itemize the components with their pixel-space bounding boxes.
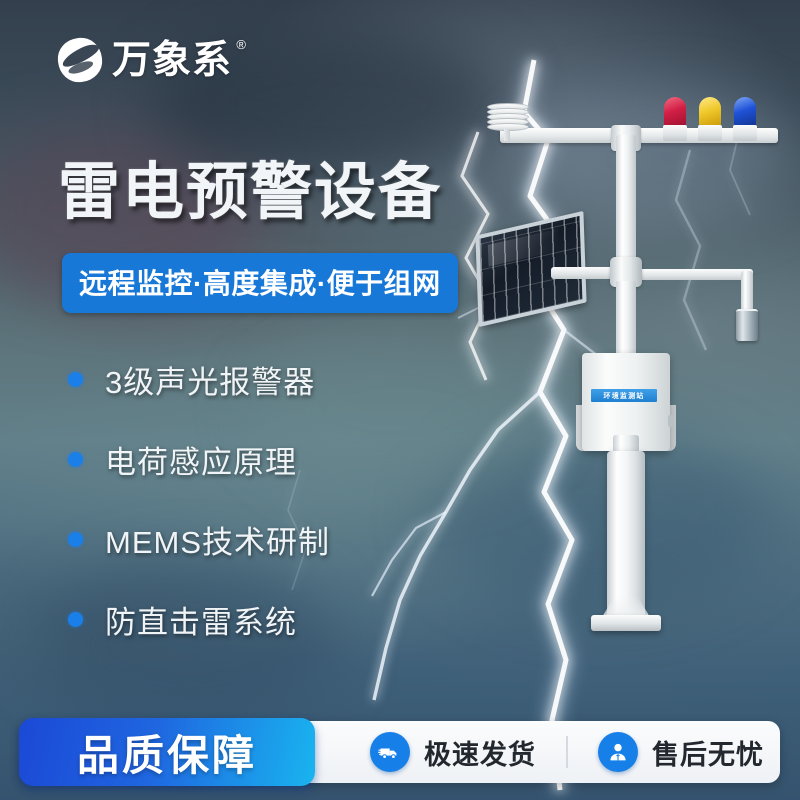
list-item: 电荷感应原理 <box>68 428 330 490</box>
trust-item-aftersales: 售后无忧 <box>568 732 794 772</box>
feature-list: 3级声光报警器 电荷感应原理 MEMS技术研制 防直击雷系统 <box>68 348 330 668</box>
sensor-arm <box>639 269 753 280</box>
sensor-arm-elbow <box>741 271 753 313</box>
product-illustration: 环境监测站 <box>455 95 785 695</box>
quality-badge-label: 品质保障 <box>77 722 257 783</box>
feature-label: 防直击雷系统 <box>105 597 297 642</box>
solar-mount-arm <box>551 267 615 279</box>
list-item: MEMS技术研制 <box>68 508 330 570</box>
bullet-dot-icon <box>68 612 83 627</box>
brand-logo: 万象系 ® <box>58 38 232 82</box>
delivery-truck-icon <box>370 732 410 772</box>
cabinet-latch-icon <box>668 415 673 427</box>
blue-alarm-beacon <box>733 97 757 143</box>
trust-bar: 品质保障 极速发货 <box>20 721 780 783</box>
trust-items: 极速发货 售后无忧 <box>340 732 794 772</box>
brand-name: 万象系 ® <box>112 41 232 80</box>
swoosh-circle-logo-icon <box>56 36 104 84</box>
yellow-alarm-beacon <box>698 97 722 143</box>
trust-item-label: 售后无忧 <box>652 733 764 772</box>
red-alarm-beacon <box>663 97 687 143</box>
radiation-shield-icon <box>487 103 527 133</box>
list-item: 3级声光报警器 <box>68 348 330 410</box>
list-item: 防直击雷系统 <box>68 588 330 650</box>
trademark-symbol: ® <box>236 38 247 51</box>
subtitle-badge: 远程监控·高度集成·便于组网 <box>62 253 458 313</box>
customer-service-icon <box>598 732 638 772</box>
feature-label: 电荷感应原理 <box>105 437 297 482</box>
page-title: 雷电预警设备 <box>58 160 442 225</box>
feature-label: 3级声光报警器 <box>105 357 315 402</box>
base-plate <box>591 615 661 631</box>
cabinet-label: 环境监测站 <box>591 389 657 402</box>
promo-banner: 万象系 ® 雷电预警设备 远程监控·高度集成·便于组网 3级声光报警器 电荷感应… <box>0 0 800 800</box>
mast-upper <box>616 135 636 265</box>
trust-item-label: 极速发货 <box>424 733 536 772</box>
bullet-dot-icon <box>68 532 83 547</box>
feature-label: MEMS技术研制 <box>105 517 330 562</box>
bullet-dot-icon <box>68 372 83 387</box>
wind-sensor <box>736 309 758 341</box>
trust-item-shipping: 极速发货 <box>340 732 566 772</box>
quality-badge: 品质保障 <box>19 718 315 786</box>
bullet-dot-icon <box>68 452 83 467</box>
